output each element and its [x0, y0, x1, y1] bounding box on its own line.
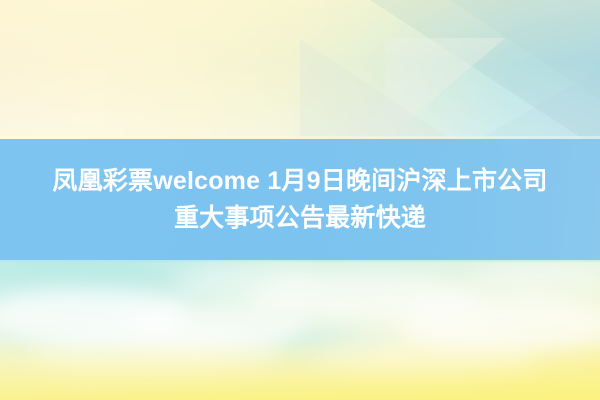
- top-decorative-section: [0, 0, 600, 139]
- promo-banner: 凤凰彩票welcome 1月9日晚间沪深上市公司 重大事项公告最新快递: [0, 0, 600, 400]
- cloud-shape: [470, 262, 600, 292]
- diagonal-facet-shape: [480, 69, 600, 139]
- headline-band: 凤凰彩票welcome 1月9日晚间沪深上市公司 重大事项公告最新快递: [0, 139, 600, 260]
- headline-line-1: 凤凰彩票welcome 1月9日晚间沪深上市公司: [20, 163, 580, 200]
- headline-text-block: 凤凰彩票welcome 1月9日晚间沪深上市公司 重大事项公告最新快递: [20, 163, 580, 237]
- diagonal-facet-shape: [300, 39, 450, 139]
- cloud-shape: [170, 266, 320, 300]
- bottom-sky-section: [0, 260, 600, 400]
- yellow-glow-overlay: [0, 338, 600, 400]
- headline-line-2: 重大事项公告最新快递: [20, 200, 580, 237]
